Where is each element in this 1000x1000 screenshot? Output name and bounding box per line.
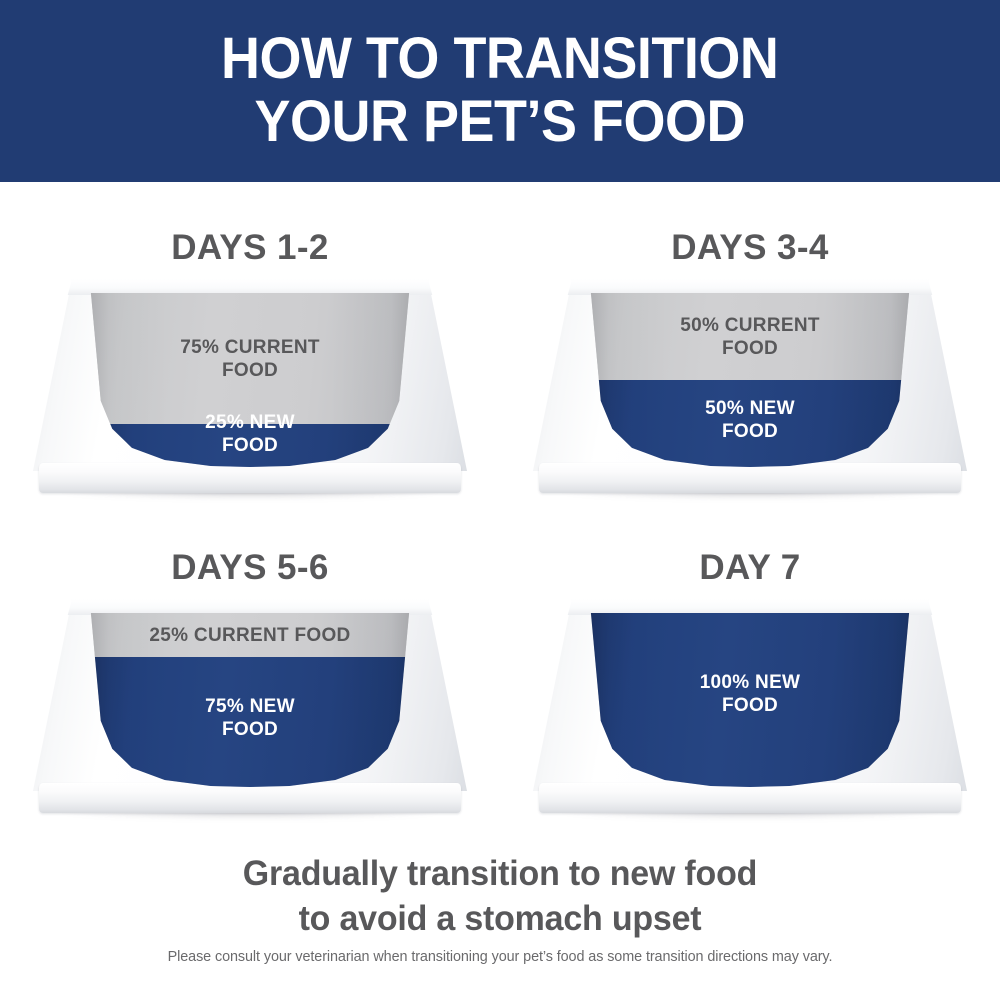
step-title-day-7: DAY 7 [500,548,1000,588]
bowl-base [539,463,961,493]
bowl-rim [33,599,467,615]
step-title-days-1-2: DAYS 1-2 [0,228,500,268]
new-food-label: 75% NEW FOOD [86,695,414,741]
bowl-rim [533,599,967,615]
tagline-line-1: Gradually transition to new food [15,852,985,897]
bowl-food-cavity: 50% CURRENT FOOD 50% NEW FOOD [586,293,914,467]
current-food-label: 75% CURRENT FOOD [86,336,414,382]
bowl-base [39,783,461,813]
header-title-line-1: HOW TO TRANSITION [221,28,778,91]
infographic-page: HOW TO TRANSITION YOUR PET’S FOOD DAYS 1… [0,0,1000,1000]
bowl-rim [533,279,967,295]
current-food-label: 50% CURRENT FOOD [586,314,914,360]
transition-step-grid: DAYS 1-2 75% CURRENT FOOD 25% NEW FOOD D… [0,182,1000,842]
current-food-label: 25% CURRENT FOOD [86,624,414,647]
bowl-base [39,463,461,493]
header-title-line-2: YOUR PET’S FOOD [255,91,746,154]
transition-step-2: DAYS 3-4 50% CURRENT FOOD 50% NEW FOOD [500,182,1000,512]
step-title-days-3-4: DAYS 3-4 [500,228,1000,268]
transition-step-1: DAYS 1-2 75% CURRENT FOOD 25% NEW FOOD [0,182,500,512]
step-title-days-5-6: DAYS 5-6 [0,548,500,588]
food-bowl-days-5-6: 25% CURRENT FOOD 75% NEW FOOD [33,599,467,817]
bowl-base [539,783,961,813]
new-food-label: 100% NEW FOOD [586,671,914,717]
bowl-food-cavity: 75% CURRENT FOOD 25% NEW FOOD [86,293,414,467]
footer-disclaimer: Please consult your veterinarian when tr… [20,948,980,965]
food-bowl-days-3-4: 50% CURRENT FOOD 50% NEW FOOD [533,279,967,497]
footer-tagline: Gradually transition to new food to avoi… [15,852,985,942]
tagline-line-2: to avoid a stomach upset [15,897,985,942]
bowl-food-cavity: 100% NEW FOOD [586,613,914,787]
bowl-food-cavity: 25% CURRENT FOOD 75% NEW FOOD [86,613,414,787]
transition-step-3: DAYS 5-6 25% CURRENT FOOD 75% NEW FOOD [0,502,500,832]
new-food-label: 50% NEW FOOD [586,397,914,443]
header-banner: HOW TO TRANSITION YOUR PET’S FOOD [0,0,1000,182]
food-bowl-days-1-2: 75% CURRENT FOOD 25% NEW FOOD [33,279,467,497]
transition-step-4: DAY 7 100% NEW FOOD [500,502,1000,832]
bowl-rim [33,279,467,295]
food-bowl-day-7: 100% NEW FOOD [533,599,967,817]
